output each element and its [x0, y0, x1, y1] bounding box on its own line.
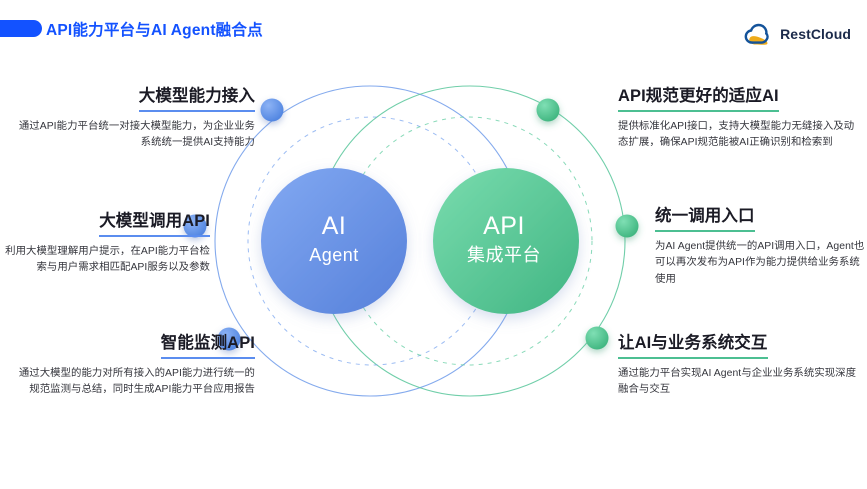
- feature-body: 利用大模型理解用户提示，在API能力平台检索与用户需求相匹配API服务以及参数: [2, 244, 210, 278]
- core-circles: [261, 168, 579, 314]
- feature-body: 为AI Agent提供统一的API调用入口，Agent也可以再次发布为API作为…: [655, 239, 865, 290]
- ai-circle-sub-text: Agent: [272, 244, 396, 267]
- feature-body: 通过API能力平台统一对接大模型能力，为企业业务系统统一提供AI支持能力: [12, 119, 255, 153]
- feature-title: 智能监测API: [161, 333, 255, 359]
- feature-block-top-left: 大模型能力接入 通过API能力平台统一对接大模型能力，为企业业务系统统一提供AI…: [12, 86, 255, 152]
- feature-block-top-right: API规范更好的适应AI 提供标准化API接口，支持大模型能力无缝接入及动态扩展…: [618, 86, 861, 152]
- inner-dashed-rings: [248, 117, 592, 365]
- feature-block-bottom-right: 让AI与业务系统交互 通过能力平台实现AI Agent与企业业务系统实现深度融合…: [618, 333, 861, 399]
- green-node-dot-mid: [616, 215, 639, 238]
- blue-node-dot-top: [261, 99, 284, 122]
- brand-logo: RestCloud: [743, 22, 851, 46]
- brand-name: RestCloud: [780, 26, 851, 42]
- api-platform-circle-label: API 集成平台: [442, 212, 566, 267]
- ai-agent-circle-label: AI Agent: [272, 212, 396, 267]
- api-circle-sub-text: 集成平台: [442, 244, 566, 267]
- feature-block-mid-left: 大模型调用API 利用大模型理解用户提示，在API能力平台检索与用户需求相匹配A…: [2, 211, 210, 277]
- feature-title: 大模型调用API: [99, 211, 210, 237]
- slide-header: API能力平台与AI Agent融合点 RestCloud: [0, 0, 867, 57]
- feature-title: 统一调用入口: [655, 206, 755, 232]
- feature-block-bottom-left: 智能监测API 通过大模型的能力对所有接入的API能力进行统一的规范监测与总结，…: [12, 333, 255, 399]
- feature-body: 通过大模型的能力对所有接入的API能力进行统一的规范监测与总结，同时生成API能…: [12, 366, 255, 400]
- feature-body: 通过能力平台实现AI Agent与企业业务系统实现深度融合与交互: [618, 366, 861, 400]
- feature-body: 提供标准化API接口，支持大模型能力无缝接入及动态扩展，确保API规范能被AI正…: [618, 119, 861, 153]
- outer-rings: [215, 86, 625, 396]
- ai-circle-main-text: AI: [272, 212, 396, 241]
- green-node-dot-bottom: [586, 327, 609, 350]
- feature-block-mid-right: 统一调用入口 为AI Agent提供统一的API调用入口，Agent也可以再次发…: [655, 206, 865, 289]
- title-pill-icon: [0, 20, 42, 37]
- page-title: API能力平台与AI Agent融合点: [46, 18, 263, 40]
- feature-title: 让AI与业务系统交互: [618, 333, 768, 359]
- feature-title: API规范更好的适应AI: [618, 86, 779, 112]
- restcloud-cloud-logo-icon: [743, 22, 773, 46]
- slide-canvas: API能力平台与AI Agent融合点 RestCloud: [0, 0, 867, 489]
- feature-title: 大模型能力接入: [139, 86, 255, 112]
- api-circle-main-text: API: [442, 212, 566, 241]
- green-node-dot-top: [537, 99, 560, 122]
